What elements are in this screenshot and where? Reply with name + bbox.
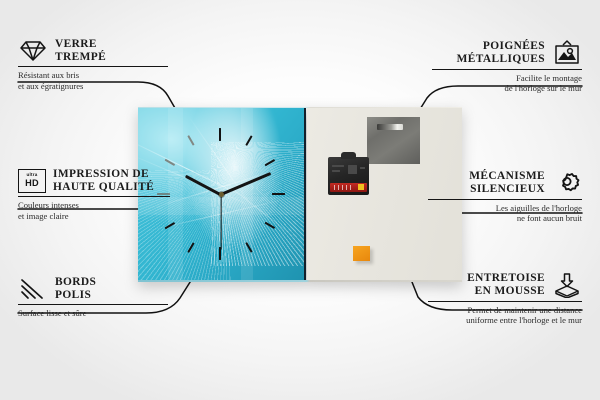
feature-title-line2: POLIS <box>55 289 96 302</box>
feature-title-line1: ENTRETOISE <box>428 272 545 285</box>
feature-title-line2: MÉTALLIQUES <box>432 53 545 66</box>
feature-title-line2: HAUTE QUALITÉ <box>53 181 154 194</box>
feature-verre-trempe: VERRE TREMPÉ Résistant aux bris et aux é… <box>18 38 168 91</box>
feature-desc-line2: et aux égratignures <box>18 81 168 91</box>
feature-desc-line1: Facilite le montage <box>432 73 582 83</box>
mechanism-hanging-tab <box>341 152 356 159</box>
feature-rule <box>432 69 582 70</box>
glass-bottom-edge <box>138 280 462 282</box>
hanger-slot <box>377 124 403 130</box>
feature-rule <box>18 66 168 67</box>
feature-rule <box>428 199 582 200</box>
feature-title-line1: MÉCANISME <box>428 170 545 183</box>
mechanism-detail <box>332 165 344 167</box>
feature-desc-line1: Couleurs intenses <box>18 200 170 210</box>
feature-title-line1: POIGNÉES <box>432 40 545 53</box>
foam-spacer-icon <box>552 272 582 298</box>
battery-label <box>330 183 367 192</box>
feature-title-line2: SILENCIEUX <box>428 183 545 196</box>
clock-tick <box>219 128 221 141</box>
feature-desc-line2: ne font aucun bruit <box>428 213 582 223</box>
feature-desc-line2: uniforme entre l'horloge et le mur <box>428 315 582 325</box>
feature-title-line1: BORDS <box>55 276 96 289</box>
feature-desc-line1: Résistant aux bris <box>18 70 168 80</box>
picture-hanger-icon <box>552 40 582 66</box>
feature-mecanisme-silencieux: MÉCANISME SILENCIEUX Les aiguilles de l'… <box>428 170 582 224</box>
feature-desc-line1: Les aiguilles de l'horloge <box>428 203 582 213</box>
feature-desc-line2: et image claire <box>18 211 170 221</box>
clock-second-hand <box>220 194 221 249</box>
mechanism-detail <box>332 170 340 172</box>
feature-bords-polis: BORDS POLIS Surface lisse et sûre <box>18 276 168 319</box>
feature-rule <box>18 304 168 305</box>
feature-entretoise-en-mousse: ENTRETOISE EN MOUSSE Permet de maintenir… <box>428 272 582 326</box>
feature-rule <box>428 301 582 302</box>
gear-icon <box>552 170 582 196</box>
glass-reflection-band <box>241 108 253 280</box>
feature-desc-line1: Surface lisse et sûre <box>18 308 168 318</box>
feature-rule <box>18 196 170 197</box>
feature-impression-haute-qualite: ultra HD IMPRESSION DE HAUTE QUALITÉ Cou… <box>18 168 170 221</box>
mechanism-detail <box>348 165 357 174</box>
clock-tick <box>187 135 194 145</box>
clock-center-hub <box>219 192 224 197</box>
infographic-canvas: VERRE TREMPÉ Résistant aux bris et aux é… <box>0 0 600 400</box>
metal-hanger-plate <box>367 117 420 164</box>
diamond-icon <box>18 39 48 63</box>
ultra-hd-icon: ultra HD <box>18 169 46 193</box>
glass-reflection-band <box>168 108 183 280</box>
feature-desc-line1: Permet de maintenir une distance <box>428 305 582 315</box>
feature-title-line1: IMPRESSION DE <box>53 168 154 181</box>
foam-spacer <box>353 246 370 261</box>
feature-poignees-metalliques: POIGNÉES MÉTALLIQUES Facilite le montage… <box>432 40 582 94</box>
clock-mechanism <box>328 157 369 195</box>
mechanism-detail <box>360 167 365 169</box>
product-photo <box>138 108 462 280</box>
feature-title-line2: EN MOUSSE <box>428 285 545 298</box>
ultra-hd-icon-main-text: HD <box>25 179 39 188</box>
feature-title-line2: TREMPÉ <box>55 51 106 64</box>
feature-desc-line2: de l'horloge sur le mur <box>432 83 582 93</box>
battery-plus-mark <box>358 184 364 190</box>
polished-edge-icon <box>18 277 48 301</box>
clock-tick <box>272 193 285 195</box>
feature-title-line1: VERRE <box>55 38 106 51</box>
